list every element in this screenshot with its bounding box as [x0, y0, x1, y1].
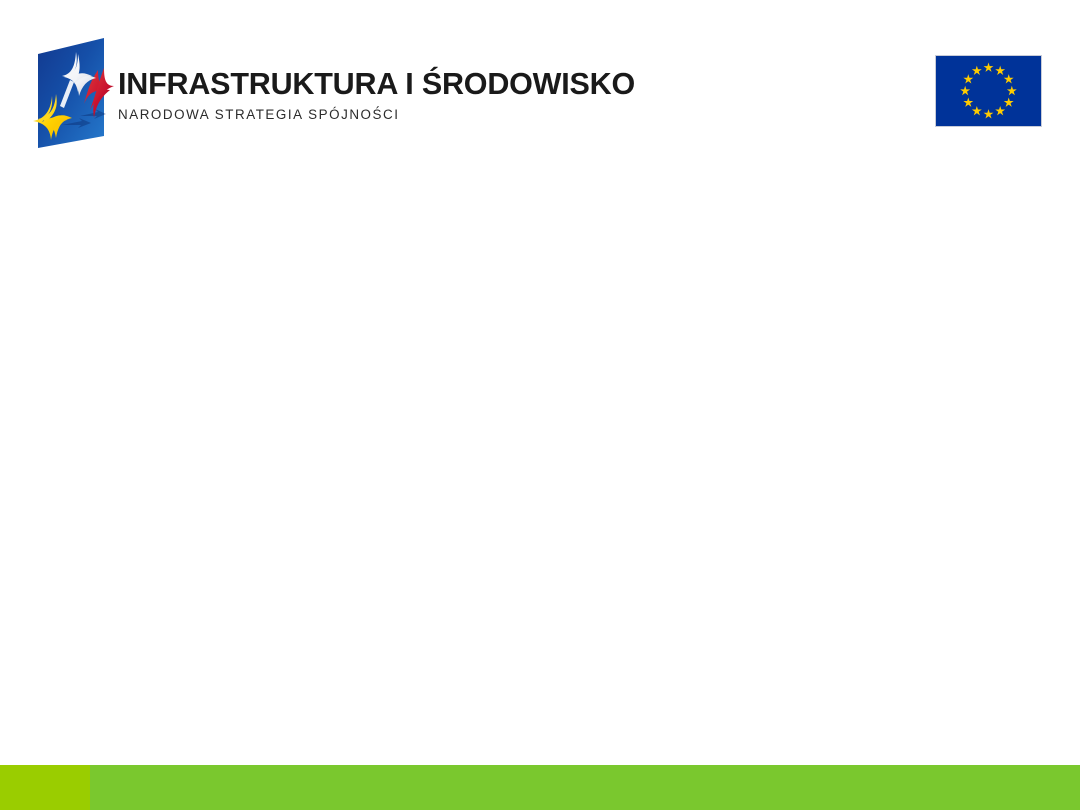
- logo-subtitle: NARODOWA STRATEGIA SPÓJNOŚCI: [118, 108, 588, 121]
- logo-text-block: INFRASTRUKTURA I ŚRODOWISKO NARODOWA STR…: [118, 69, 588, 121]
- presentation-slide: INFRASTRUKTURA I ŚRODOWISKO NARODOWA STR…: [0, 0, 1080, 810]
- infrastruktura-i-srodowisko-logo: INFRASTRUKTURA I ŚRODOWISKO NARODOWA STR…: [26, 32, 586, 152]
- footer-bar-right-segment: [90, 765, 1080, 810]
- footer-bar-left-segment: [0, 765, 90, 810]
- european-union-flag-icon: [936, 56, 1041, 126]
- nss-star-emblem-icon: [26, 32, 118, 150]
- footer-accent-bar: [0, 765, 1080, 810]
- logo-title: INFRASTRUKTURA I ŚRODOWISKO: [118, 69, 588, 100]
- slide-content-area[interactable]: [0, 160, 1080, 765]
